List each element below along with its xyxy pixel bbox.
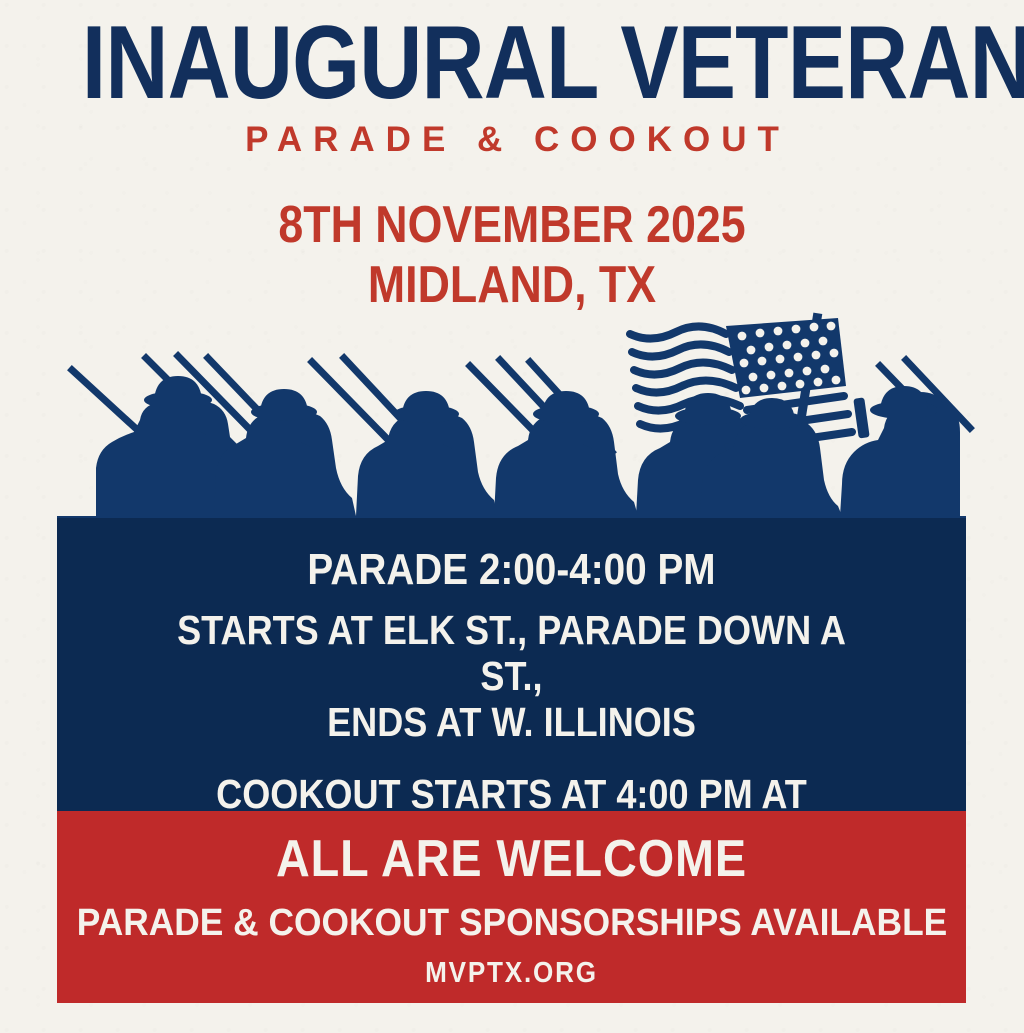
soldier-figure-2 xyxy=(214,389,356,516)
event-date: 8TH NOVEMBER 2025 xyxy=(72,196,953,256)
soldier-figure-7 xyxy=(840,386,960,516)
event-details-panel: PARADE 2:00-4:00 PM STARTS AT ELK ST., P… xyxy=(57,518,966,811)
poster-title: INAUGURAL VETERANS DAY xyxy=(82,0,942,112)
footer-band: ALL ARE WELCOME PARADE & COOKOUT SPONSOR… xyxy=(57,811,966,1003)
helmet-dome xyxy=(880,386,928,410)
route-line-2: ENDS AT W. ILLINOIS xyxy=(327,699,696,745)
sponsorship-row: PARADE & COOKOUT SPONSORSHIPS AVAILABLE xyxy=(57,897,966,949)
star-icon xyxy=(996,897,1024,949)
website-url[interactable]: MVPTX.ORG xyxy=(102,959,920,988)
helmet-dome xyxy=(154,376,202,400)
helmet-dome xyxy=(260,389,308,412)
all-are-welcome-text: ALL ARE WELCOME xyxy=(102,833,920,885)
helmet-dome xyxy=(542,391,590,414)
helmet-dome xyxy=(402,391,450,414)
parade-time-text: PARADE 2:00-4:00 PM xyxy=(147,546,877,594)
poster-header: INAUGURAL VETERANS DAY PARADE & COOKOUT xyxy=(0,0,1024,157)
sponsorship-text: PARADE & COOKOUT SPONSORSHIPS AVAILABLE xyxy=(76,904,946,942)
event-date-location: 8TH NOVEMBER 2025 MIDLAND, TX xyxy=(0,196,1024,316)
route-line-1: STARTS AT ELK ST., PARADE DOWN A ST., xyxy=(177,607,846,699)
silhouette-group xyxy=(57,313,970,532)
parade-route-text: STARTS AT ELK ST., PARADE DOWN A ST., EN… xyxy=(147,608,877,746)
star-icon xyxy=(0,897,28,949)
veterans-day-poster: INAUGURAL VETERANS DAY PARADE & COOKOUT … xyxy=(0,0,1024,1033)
soldiers-silhouette-illustration xyxy=(0,300,1024,532)
soldier-figure-3 xyxy=(356,391,498,516)
